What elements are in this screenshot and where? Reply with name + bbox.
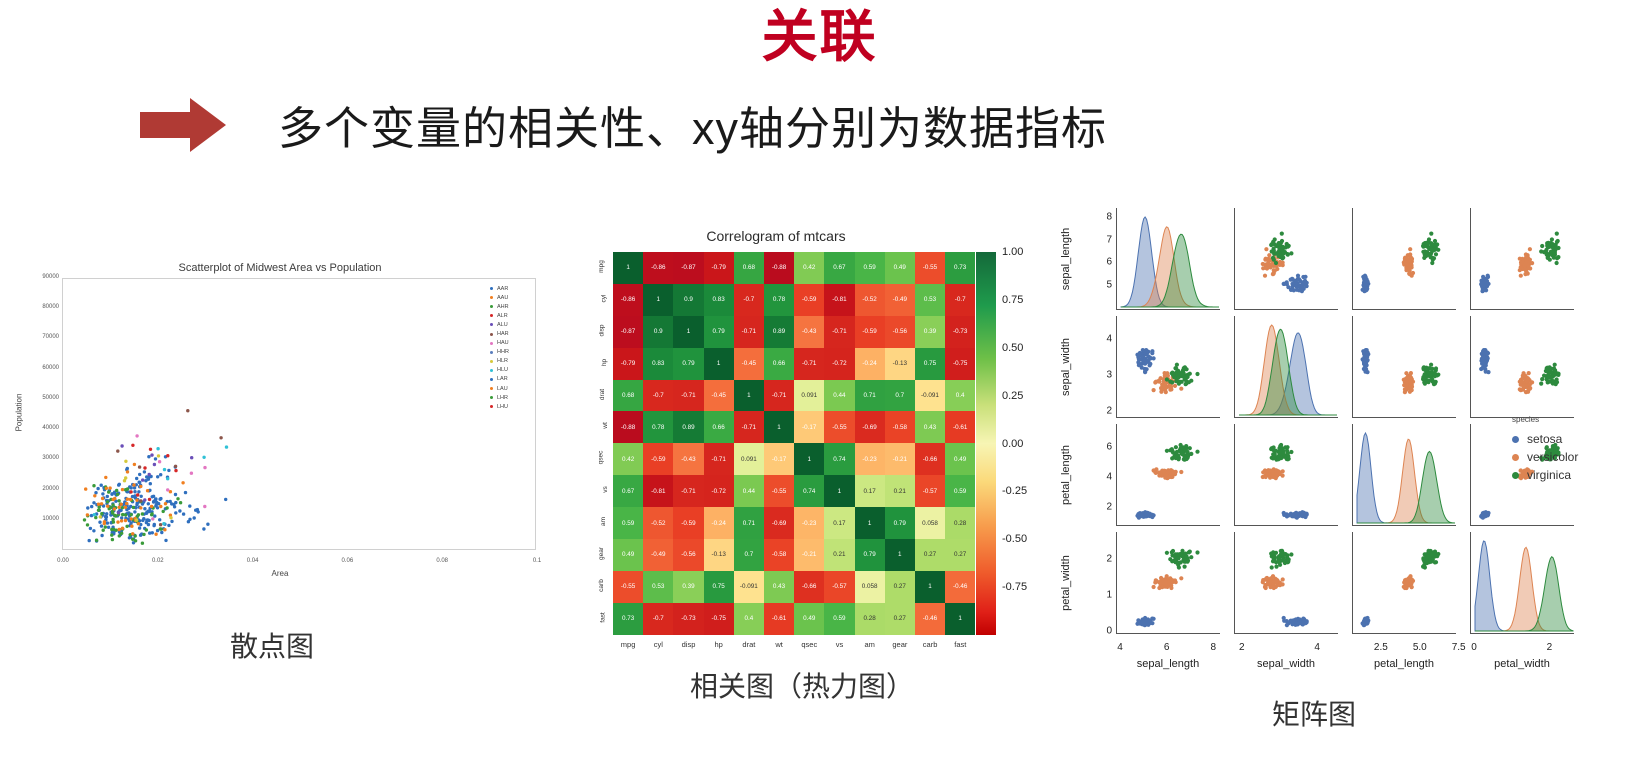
correlogram-cell: 0.74	[794, 475, 824, 507]
correlogram-cell: -0.59	[794, 284, 824, 316]
correlogram-cell: -0.66	[915, 443, 945, 475]
correlogram-cell: -0.71	[734, 411, 764, 443]
correlogram-cell: -0.21	[885, 443, 915, 475]
correlogram-cell: 0.17	[855, 475, 885, 507]
correlogram-cell: 0.67	[613, 475, 643, 507]
scatterplot-legend-item[interactable]: HAU	[484, 339, 536, 348]
correlogram-cell: 0.28	[855, 603, 885, 635]
correlogram-cell: 0.42	[794, 252, 824, 284]
legend-label: HLU	[497, 367, 508, 373]
correlogram-cell: 0.53	[915, 284, 945, 316]
correlogram-cell: -0.71	[734, 316, 764, 348]
correlogram-cell: 0.091	[734, 443, 764, 475]
correlogram-cell: 0.67	[824, 252, 854, 284]
correlogram-column-label: drat	[742, 640, 755, 649]
scatterplot-legend-item[interactable]: HAR	[484, 329, 536, 338]
pairplot-scatter-cell	[1234, 424, 1338, 526]
legend-label: setosa	[1527, 432, 1562, 446]
correlogram-cell: 0.66	[764, 348, 794, 380]
correlogram-cell: -0.23	[855, 443, 885, 475]
correlogram-cell: 1	[855, 507, 885, 539]
correlogram-cell: -0.86	[643, 252, 673, 284]
correlogram-column-label: wt	[775, 640, 783, 649]
correlogram-cell: -0.81	[824, 284, 854, 316]
correlogram-cell: -0.88	[764, 252, 794, 284]
pairplot-column-label: petal_length	[1374, 658, 1434, 670]
scatterplot-y-tick: 70000	[26, 334, 59, 340]
legend-label: HAU	[497, 340, 509, 346]
legend-label: LAU	[497, 386, 508, 392]
pairplot-x-tick: 4	[1117, 642, 1123, 653]
pairplot-scatter-cell	[1470, 316, 1574, 418]
scatterplot-plot-area	[62, 278, 536, 550]
correlogram-cell: -0.52	[643, 507, 673, 539]
correlogram-column-label: mpg	[621, 640, 636, 649]
correlogram-cell: 0.71	[734, 507, 764, 539]
correlogram-cell: -0.71	[704, 443, 734, 475]
correlogram-cell: 1	[915, 571, 945, 603]
pairplot-scatter-cell	[1116, 424, 1220, 526]
correlogram-cell: 0.4	[945, 380, 975, 412]
correlogram-cell: 0.68	[613, 380, 643, 412]
scatterplot-title: Scatterplot of Midwest Area vs Populatio…	[22, 262, 538, 274]
legend-swatch	[490, 405, 493, 408]
pairplot-row-label: petal_width	[1060, 532, 1076, 544]
scatterplot-ylabel: Population	[14, 394, 23, 432]
legend-label: ALR	[497, 313, 508, 319]
correlogram-cell: -0.55	[915, 252, 945, 284]
pairplot-diagonal-density	[1116, 208, 1220, 310]
correlogram-cell: -0.7	[945, 284, 975, 316]
correlogram-cell: 0.59	[855, 252, 885, 284]
correlogram-column-label: fast	[954, 640, 966, 649]
pairplot-scatter-cell	[1116, 316, 1220, 418]
correlogram-cell: 0.058	[855, 571, 885, 603]
legend-swatch	[490, 351, 493, 354]
legend-swatch	[490, 333, 493, 336]
pairplot-column-label: sepal_length	[1137, 658, 1199, 670]
correlogram-row-label: vs	[556, 486, 608, 493]
correlogram-cell: -0.46	[945, 571, 975, 603]
correlogram-figure: Correlogram of mtcars 1-0.86-0.87-0.790.…	[556, 228, 1021, 658]
scatterplot-y-tick: 10000	[26, 516, 59, 522]
correlogram-cell: 0.66	[704, 411, 734, 443]
pairplot-y-tick: 6	[1090, 257, 1112, 268]
correlogram-row-label: drat	[556, 391, 608, 398]
colorbar-tick: -0.50	[1002, 533, 1027, 545]
correlogram-cell: 0.59	[824, 603, 854, 635]
correlogram-cell: 0.49	[613, 539, 643, 571]
scatterplot-legend-item[interactable]: LAR	[484, 375, 536, 384]
correlogram-cell: -0.58	[764, 539, 794, 571]
correlogram-cell: -0.88	[613, 411, 643, 443]
pairplot-scatter-cell	[1234, 208, 1338, 310]
correlogram-title: Correlogram of mtcars	[566, 228, 986, 244]
correlogram-cell: -0.75	[704, 603, 734, 635]
pairplot-y-tick: 7	[1090, 234, 1112, 245]
correlogram-cell: 0.27	[915, 539, 945, 571]
bullet-row: 多个变量的相关性、xy轴分别为数据指标	[140, 92, 1107, 157]
correlogram-row-label: gear	[556, 550, 608, 557]
pairplot-diagonal-density	[1234, 316, 1338, 418]
pairplot-x-tick: 2	[1239, 642, 1245, 653]
correlogram-cell: -0.71	[764, 380, 794, 412]
correlogram-cell: 1	[885, 539, 915, 571]
correlogram-cell: 0.43	[915, 411, 945, 443]
correlogram-cell: 0.21	[885, 475, 915, 507]
pairplot-y-tick: 2	[1090, 501, 1112, 512]
pairplot-row-label: sepal_width	[1060, 316, 1076, 328]
correlogram-cell: -0.61	[764, 603, 794, 635]
correlogram-cell: 0.9	[643, 316, 673, 348]
correlogram-cell: 0.7	[885, 380, 915, 412]
correlogram-matrix: 1-0.86-0.87-0.790.68-0.880.420.670.590.4…	[613, 252, 975, 635]
correlogram-cell: 0.39	[915, 316, 945, 348]
correlogram-cell: -0.13	[704, 539, 734, 571]
scatterplot-legend-item[interactable]: LHU	[484, 402, 536, 411]
legend-label: ALU	[497, 322, 508, 328]
legend-swatch	[490, 287, 493, 290]
correlogram-row-label: am	[556, 518, 608, 525]
scatterplot-x-tick: 0.06	[342, 558, 354, 564]
pairplot-x-tick: 2	[1547, 642, 1553, 653]
correlogram-row-label: qsec	[556, 454, 608, 461]
caption-correlogram: 相关图（热力图）	[690, 665, 914, 705]
correlogram-cell: -0.71	[673, 380, 703, 412]
correlogram-cell: 0.49	[885, 252, 915, 284]
legend-swatch	[490, 296, 493, 299]
correlogram-cell: -0.091	[734, 571, 764, 603]
correlogram-row-label: wt	[556, 422, 608, 429]
scatterplot-legend-item[interactable]: AAU	[484, 293, 536, 302]
correlogram-cell: -0.87	[613, 316, 643, 348]
pairplot-diagonal-density	[1352, 424, 1456, 526]
scatterplot-legend-item[interactable]: HLR	[484, 357, 536, 366]
correlogram-cell: 0.83	[643, 348, 673, 380]
scatterplot-legend-item[interactable]: HHR	[484, 348, 536, 357]
pairplot-scatter-cell	[1352, 208, 1456, 310]
correlogram-cell: -0.21	[794, 539, 824, 571]
page-title: 关联	[0, 0, 1639, 73]
correlogram-cell: 1	[704, 348, 734, 380]
correlogram-cell: 0.42	[613, 443, 643, 475]
correlogram-cell: -0.59	[673, 507, 703, 539]
legend-label: HAR	[497, 331, 509, 337]
legend-label: AAR	[497, 286, 508, 292]
correlogram-cell: -0.86	[613, 284, 643, 316]
legend-swatch	[490, 369, 493, 372]
correlogram-cell: -0.55	[824, 411, 854, 443]
pairplot-x-tick: 0	[1471, 642, 1477, 653]
correlogram-cell: 0.83	[704, 284, 734, 316]
correlogram-cell: 1	[734, 380, 764, 412]
pairplot-scatter-cell	[1352, 316, 1456, 418]
scatterplot-y-tick: 80000	[26, 304, 59, 310]
legend-swatch	[490, 378, 493, 381]
scatterplot-y-tick: 60000	[26, 365, 59, 371]
correlogram-cell: 1	[794, 443, 824, 475]
correlogram-cell: -0.69	[855, 411, 885, 443]
legend-swatch	[490, 305, 493, 308]
correlogram-cell: -0.79	[704, 252, 734, 284]
pairplot-x-tick: 6	[1164, 642, 1170, 653]
colorbar-tick: 0.25	[1002, 390, 1023, 402]
scatterplot-legend-item[interactable]: AHR	[484, 302, 536, 311]
caption-pairplot: 矩阵图	[1272, 693, 1356, 733]
pairplot-scatter-cell	[1116, 532, 1220, 634]
pairplot-scatter-cell	[1470, 208, 1574, 310]
correlogram-cell: -0.59	[855, 316, 885, 348]
legend-swatch	[490, 396, 493, 399]
correlogram-cell: -0.45	[734, 348, 764, 380]
correlogram-cell: -0.45	[704, 380, 734, 412]
correlogram-cell: -0.72	[824, 348, 854, 380]
correlogram-cell: -0.56	[673, 539, 703, 571]
correlogram-column-label: gear	[892, 640, 907, 649]
correlogram-cell: -0.24	[855, 348, 885, 380]
bullet-text: 多个变量的相关性、xy轴分别为数据指标	[278, 92, 1107, 157]
pairplot-matrix	[1116, 208, 1574, 634]
correlogram-column-label: disp	[682, 640, 696, 649]
pairplot-legend-item[interactable]: versicolor	[1512, 448, 1578, 466]
pairplot-y-tick: 0	[1090, 626, 1112, 637]
correlogram-cell: 0.53	[643, 571, 673, 603]
scatterplot-xlabel: Area	[22, 569, 538, 578]
correlogram-row-label: carb	[556, 582, 608, 589]
correlogram-row-label: fast	[556, 614, 608, 621]
legend-label: virginica	[1527, 468, 1571, 482]
correlogram-cell: -0.71	[673, 475, 703, 507]
correlogram-cell: -0.7	[734, 284, 764, 316]
scatterplot-legend-item[interactable]: AAR	[484, 284, 536, 293]
correlogram-cell: -0.13	[885, 348, 915, 380]
legend-label: versicolor	[1527, 450, 1578, 464]
correlogram-cell: -0.55	[613, 571, 643, 603]
legend-swatch	[490, 387, 493, 390]
correlogram-cell: -0.56	[885, 316, 915, 348]
correlogram-cell: 0.4	[734, 603, 764, 635]
scatterplot-x-tick: 0.02	[152, 558, 164, 564]
correlogram-cell: 0.79	[885, 507, 915, 539]
correlogram-cell: 0.71	[855, 380, 885, 412]
correlogram-cell: -0.52	[855, 284, 885, 316]
correlogram-cell: -0.58	[885, 411, 915, 443]
correlogram-cell: -0.71	[824, 316, 854, 348]
correlogram-cell: -0.7	[643, 380, 673, 412]
correlogram-cell: -0.43	[673, 443, 703, 475]
pairplot-y-tick: 5	[1090, 279, 1112, 290]
correlogram-cell: 0.7	[734, 539, 764, 571]
correlogram-cell: -0.17	[764, 443, 794, 475]
pairplot-y-tick: 8	[1090, 212, 1112, 223]
correlogram-cell: 0.78	[643, 411, 673, 443]
correlogram-cell: 0.79	[855, 539, 885, 571]
scatterplot-y-tick: 30000	[26, 455, 59, 461]
correlogram-cell: 0.89	[673, 411, 703, 443]
pairplot-y-tick: 2	[1090, 553, 1112, 564]
correlogram-row-label: hp	[556, 359, 608, 366]
correlogram-cell: -0.81	[643, 475, 673, 507]
legend-label: AAU	[497, 295, 508, 301]
pairplot-scatter-cell	[1234, 532, 1338, 634]
correlogram-colorbar	[976, 252, 996, 635]
pairplot-legend-title: species	[1512, 415, 1578, 424]
pairplot-y-tick: 1	[1090, 589, 1112, 600]
pairplot-x-tick: 4	[1314, 642, 1320, 653]
scatterplot-points	[63, 279, 536, 550]
correlogram-cell: -0.69	[764, 507, 794, 539]
correlogram-cell: -0.73	[945, 316, 975, 348]
correlogram-cell: 0.49	[945, 443, 975, 475]
correlogram-cell: 0.39	[673, 571, 703, 603]
scatterplot-legend-item[interactable]: ALR	[484, 311, 536, 320]
scatterplot-legend-item[interactable]: HLU	[484, 366, 536, 375]
pairplot-x-tick: 8	[1211, 642, 1217, 653]
correlogram-cell: -0.71	[794, 348, 824, 380]
correlogram-cell: -0.57	[824, 571, 854, 603]
legend-label: LAR	[497, 376, 508, 382]
correlogram-cell: -0.66	[794, 571, 824, 603]
correlogram-cell: 0.79	[704, 316, 734, 348]
correlogram-cell: -0.55	[764, 475, 794, 507]
correlogram-cell: 0.79	[673, 348, 703, 380]
scatterplot-y-tick: 40000	[26, 425, 59, 431]
correlogram-cell: 0.75	[704, 571, 734, 603]
pairplot-row-label: petal_length	[1060, 424, 1076, 436]
correlogram-cell: 1	[764, 411, 794, 443]
correlogram-row-label: mpg	[556, 263, 608, 270]
correlogram-cell: -0.23	[794, 507, 824, 539]
correlogram-cell: 0.73	[613, 603, 643, 635]
colorbar-tick: -0.25	[1002, 485, 1027, 497]
correlogram-cell: -0.57	[915, 475, 945, 507]
correlogram-cell: 0.091	[794, 380, 824, 412]
pairplot-y-tick: 3	[1090, 370, 1112, 381]
correlogram-cell: 0.75	[915, 348, 945, 380]
correlogram-cell: -0.091	[915, 380, 945, 412]
correlogram-column-label: qsec	[801, 640, 817, 649]
correlogram-cell: 0.59	[945, 475, 975, 507]
pairplot-legend-item[interactable]: virginica	[1512, 466, 1578, 484]
correlogram-cell: -0.73	[673, 603, 703, 635]
caption-scatterplot: 散点图	[230, 625, 314, 665]
correlogram-cell: -0.87	[673, 252, 703, 284]
correlogram-column-label: hp	[715, 640, 723, 649]
correlogram-cell: 0.21	[824, 539, 854, 571]
correlogram-cell: 0.89	[764, 316, 794, 348]
correlogram-cell: -0.17	[794, 411, 824, 443]
correlogram-cell: -0.72	[704, 475, 734, 507]
correlogram-cell: 1	[824, 475, 854, 507]
scatterplot-legend-item[interactable]: LAU	[484, 384, 536, 393]
correlogram-column-label: vs	[836, 640, 844, 649]
pairplot-scatter-cell	[1352, 532, 1456, 634]
correlogram-cell: -0.79	[613, 348, 643, 380]
correlogram-cell: 0.9	[673, 284, 703, 316]
correlogram-cell: -0.59	[643, 443, 673, 475]
correlogram-cell: -0.75	[945, 348, 975, 380]
correlogram-cell: 0.17	[824, 507, 854, 539]
correlogram-cell: -0.61	[945, 411, 975, 443]
colorbar-tick: 0.50	[1002, 342, 1023, 354]
colorbar-tick: -0.75	[1002, 581, 1027, 593]
scatterplot-y-tick: 20000	[26, 486, 59, 492]
correlogram-cell: 1	[643, 284, 673, 316]
correlogram-cell: 0.43	[764, 571, 794, 603]
correlogram-cell: 1	[613, 252, 643, 284]
correlogram-cell: -0.43	[794, 316, 824, 348]
correlogram-cell: 0.27	[885, 571, 915, 603]
legend-label: AHR	[497, 304, 509, 310]
scatterplot-x-tick: 0.08	[436, 558, 448, 564]
correlogram-cell: -0.49	[885, 284, 915, 316]
correlogram-cell: 0.49	[794, 603, 824, 635]
correlogram-row-label: cyl	[556, 295, 608, 302]
correlogram-cell: 0.78	[764, 284, 794, 316]
correlogram-cell: 0.73	[945, 252, 975, 284]
pairplot-legend: species setosaversicolorvirginica	[1512, 415, 1578, 484]
correlogram-cell: 1	[945, 603, 975, 635]
correlogram-cell: 1	[673, 316, 703, 348]
pairplot-legend-item[interactable]: setosa	[1512, 430, 1578, 448]
scatterplot-x-tick: 0.04	[247, 558, 259, 564]
legend-swatch	[490, 342, 493, 345]
correlogram-cell: 0.44	[824, 380, 854, 412]
correlogram-cell: -0.24	[704, 507, 734, 539]
pairplot-legend-items: setosaversicolorvirginica	[1512, 430, 1578, 484]
legend-swatch	[490, 323, 493, 326]
pairplot-x-tick: 5.0	[1413, 642, 1427, 653]
legend-swatch	[1512, 436, 1519, 443]
pairplot-y-tick: 4	[1090, 471, 1112, 482]
scatterplot-figure: Scatterplot of Midwest Area vs Populatio…	[22, 258, 538, 578]
correlogram-cell: 0.44	[734, 475, 764, 507]
colorbar-tick: 0.00	[1002, 438, 1023, 450]
correlogram-column-label: cyl	[654, 640, 663, 649]
legend-label: LHR	[497, 395, 508, 401]
correlogram-cell: 0.27	[945, 539, 975, 571]
correlogram-column-label: am	[864, 640, 874, 649]
scatterplot-x-tick: 0.1	[533, 558, 541, 564]
legend-label: HHR	[497, 349, 509, 355]
scatterplot-legend-item[interactable]: LHR	[484, 393, 536, 402]
pairplot-row-label: sepal_length	[1060, 208, 1076, 220]
legend-swatch	[1512, 454, 1519, 461]
legend-label: HLR	[497, 358, 508, 364]
legend-swatch	[490, 360, 493, 363]
pairplot-y-tick: 6	[1090, 441, 1112, 452]
legend-label: LHU	[497, 404, 508, 410]
pairplot-y-tick: 2	[1090, 406, 1112, 417]
right-arrow-icon	[140, 96, 226, 154]
correlogram-cell: 0.59	[613, 507, 643, 539]
correlogram-cell: -0.46	[915, 603, 945, 635]
correlogram-cell: 0.28	[945, 507, 975, 539]
legend-swatch	[490, 314, 493, 317]
colorbar-tick: 0.75	[1002, 294, 1023, 306]
correlogram-cell: 0.68	[734, 252, 764, 284]
scatterplot-legend: AARAAUAHRALRALUHARHAUHHRHLRHLULARLAULHRL…	[484, 284, 536, 411]
scatterplot-y-tick: 90000	[26, 274, 59, 280]
pairplot-column-label: sepal_width	[1257, 658, 1315, 670]
correlogram-row-label: disp	[556, 327, 608, 334]
scatterplot-x-tick: 0.00	[57, 558, 69, 564]
correlogram-cell: -0.7	[643, 603, 673, 635]
scatterplot-legend-item[interactable]: ALU	[484, 320, 536, 329]
correlogram-cell: 0.27	[885, 603, 915, 635]
legend-swatch	[1512, 472, 1519, 479]
correlogram-cell: 0.74	[824, 443, 854, 475]
